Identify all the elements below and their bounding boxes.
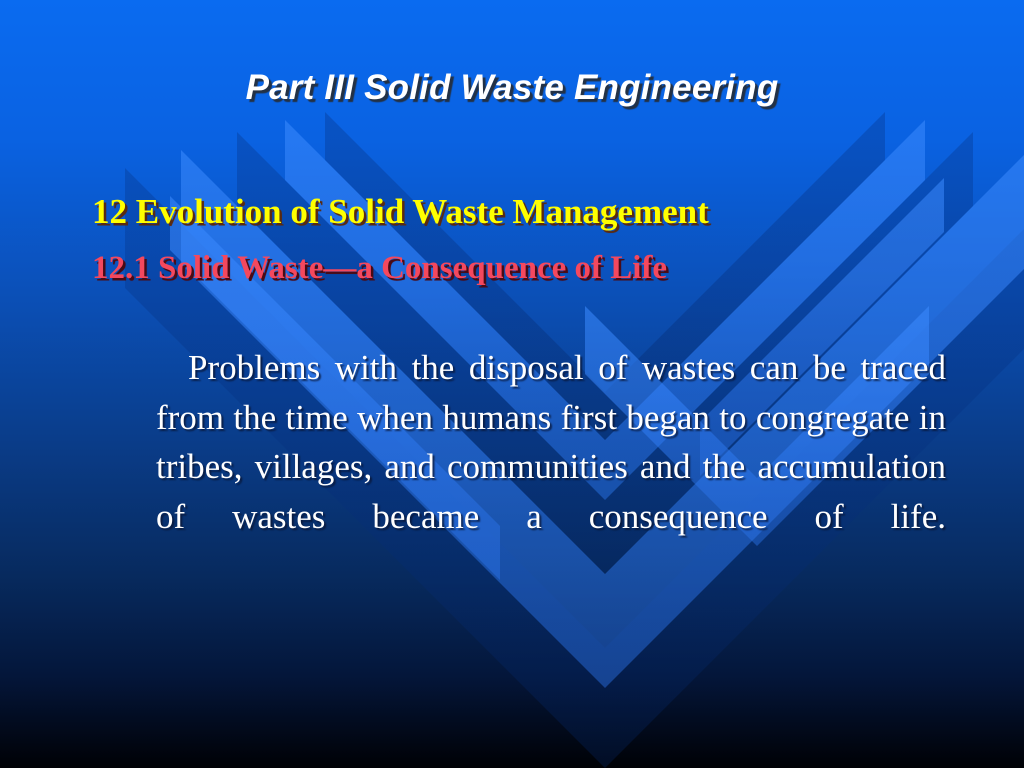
- section-heading: 12.1 Solid Waste—a Consequence of Life: [92, 250, 667, 287]
- chapter-heading: 12 Evolution of Solid Waste Management: [92, 192, 709, 232]
- slide-content: Part III Solid Waste Engineering 12 Evol…: [0, 0, 1024, 768]
- body-paragraph: Problems with the disposal of wastes can…: [156, 343, 946, 591]
- presentation-slide: Part III Solid Waste Engineering 12 Evol…: [0, 0, 1024, 768]
- slide-title: Part III Solid Waste Engineering: [0, 68, 1024, 108]
